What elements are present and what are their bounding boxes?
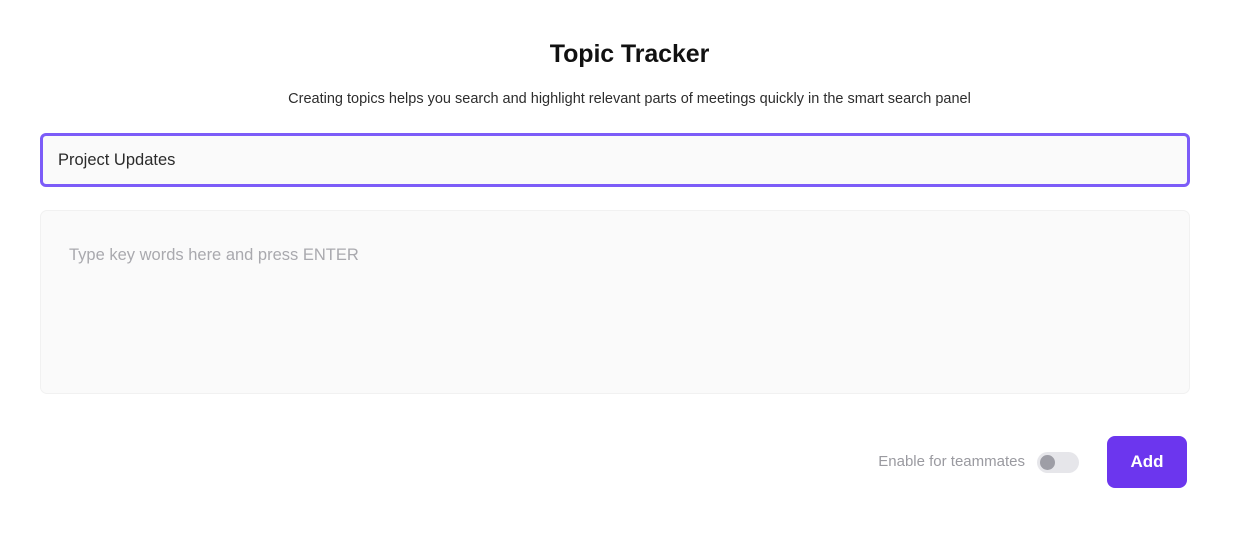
keywords-placeholder: Type key words here and press ENTER — [69, 246, 359, 264]
add-button[interactable]: Add — [1107, 436, 1187, 488]
page-title: Topic Tracker — [0, 37, 1259, 71]
footer-controls: Enable for teammates Add — [40, 436, 1187, 488]
topic-name-input[interactable]: Project Updates — [40, 133, 1190, 187]
topic-name-value: Project Updates — [58, 149, 175, 171]
keywords-input[interactable]: Type key words here and press ENTER — [40, 210, 1190, 394]
toggle-knob — [1040, 455, 1055, 470]
enable-for-teammates-toggle[interactable] — [1037, 452, 1079, 473]
enable-for-teammates-label: Enable for teammates — [878, 452, 1025, 472]
page-subtitle: Creating topics helps you search and hig… — [0, 89, 1259, 109]
topic-tracker-page: Topic Tracker Creating topics helps you … — [0, 0, 1259, 534]
